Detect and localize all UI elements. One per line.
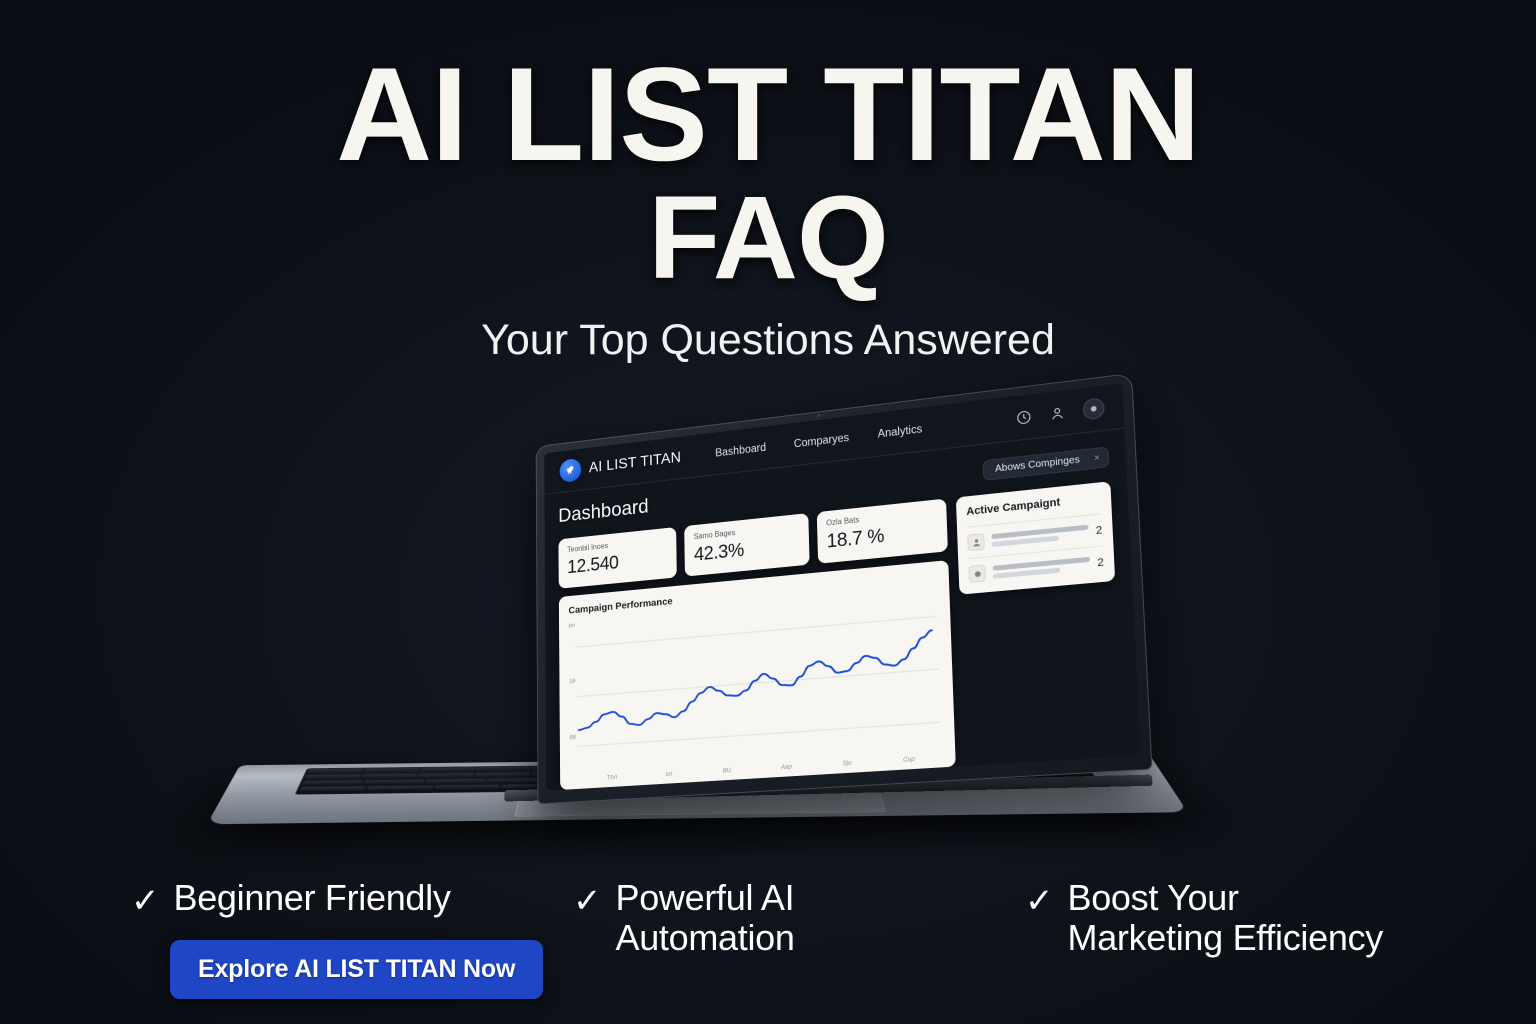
keyboard-key xyxy=(303,780,364,785)
check-icon: ✓ xyxy=(573,884,602,918)
line-chart: bn 18 88 xyxy=(569,587,945,776)
x-tick-label: Cup xyxy=(878,754,941,765)
check-icon: ✓ xyxy=(1025,884,1054,918)
poster-canvas: AI LIST TITAN FAQ Your Top Questions Ans… xyxy=(0,0,1536,1024)
hero-section: AI LIST TITAN FAQ Your Top Questions Ans… xyxy=(0,0,1536,365)
x-tick-label: Ixt xyxy=(640,769,698,779)
keyboard-key xyxy=(420,767,475,771)
laptop-lid: AI LIST TITAN Bashboard Comparyes Analyt… xyxy=(536,373,1153,805)
x-tick-label: TIVI xyxy=(584,773,640,783)
grid-line xyxy=(576,669,938,697)
close-icon[interactable]: × xyxy=(1094,452,1100,463)
x-tick-label: Aap xyxy=(756,762,816,773)
rocket-icon xyxy=(560,458,582,483)
placeholder-bars xyxy=(991,525,1089,547)
keyboard-key xyxy=(434,785,500,790)
user-icon[interactable] xyxy=(1049,404,1066,422)
active-campaigns-panel: Active Campaignt 2 xyxy=(956,481,1115,594)
brand-name: AI LIST TITAN xyxy=(589,449,681,476)
help-circle-icon[interactable] xyxy=(1015,408,1032,425)
keyboard-key xyxy=(308,769,364,773)
nav-links: Bashboard Comparyes Analytics xyxy=(715,423,922,459)
feature-label: Boost Your Marketing Efficiency xyxy=(1068,878,1383,957)
nav-item-comparyes[interactable]: Comparyes xyxy=(794,432,850,450)
dashboard-app: AI LIST TITAN Bashboard Comparyes Analyt… xyxy=(544,383,1141,791)
nav-item-analytics[interactable]: Analytics xyxy=(878,423,923,440)
feature-item-boost-marketing-efficiency: ✓ Boost Your Marketing Efficiency xyxy=(1025,878,1383,957)
x-tick-label: Sjo xyxy=(816,758,877,769)
keyboard-key xyxy=(367,785,433,790)
keyboard-key xyxy=(300,786,367,791)
stat-card[interactable]: Ozla Bats 18.7 % xyxy=(816,499,947,564)
dashboard-main-column: Teonbil Inoes 12.540 Samo Bages 42.3% Oz… xyxy=(558,499,955,790)
chart-card: Campaign Performance bn 18 88 TIVI xyxy=(559,560,956,790)
thumbnail-icon xyxy=(968,565,986,583)
filter-pill-label: Abows Compinges xyxy=(995,454,1080,474)
keyboard-key xyxy=(362,774,418,779)
thumbnail-icon xyxy=(967,533,985,551)
keyboard-key xyxy=(425,779,485,784)
feature-item-powerful-ai-automation: ✓ Powerful AI Automation xyxy=(573,878,795,957)
nav-item-bashboard[interactable]: Bashboard xyxy=(715,442,766,459)
stat-card[interactable]: Teonbil Inoes 12.540 xyxy=(558,527,677,589)
feature-label: Powerful AI Automation xyxy=(616,878,795,957)
panel-title: Active Campaignt xyxy=(966,492,1101,518)
x-tick-label: BU xyxy=(698,766,757,776)
dashboard-grid: Teonbil Inoes 12.540 Samo Bages 42.3% Oz… xyxy=(558,481,1123,790)
grid-line xyxy=(577,722,941,746)
page-title: Dashboard xyxy=(558,496,649,528)
stat-card[interactable]: Samo Bages 42.3% xyxy=(684,513,809,576)
explore-cta-button[interactable]: Explore AI LIST TITAN Now xyxy=(170,940,543,999)
keyboard-key xyxy=(476,767,531,771)
keyboard-key xyxy=(475,772,530,777)
chart-series-line xyxy=(578,630,934,730)
keyboard-key xyxy=(364,768,419,772)
chart-plot xyxy=(569,587,945,776)
check-icon: ✓ xyxy=(131,884,160,918)
brand-block[interactable]: AI LIST TITAN xyxy=(560,446,682,483)
laptop-display: AI LIST TITAN Bashboard Comparyes Analyt… xyxy=(544,383,1141,791)
avatar[interactable] xyxy=(1082,397,1105,420)
page-subtitle: Your Top Questions Answered xyxy=(0,316,1536,365)
webcam-icon xyxy=(817,414,820,417)
placeholder-bars xyxy=(993,557,1091,579)
laptop-mockup: AI LIST TITAN Bashboard Comparyes Analyt… xyxy=(243,398,1153,873)
filter-pill[interactable]: Abows Compinges × xyxy=(983,446,1110,480)
page-headline-line1: AI LIST TITAN xyxy=(0,54,1536,176)
page-headline-line2: FAQ xyxy=(0,182,1536,294)
nav-icons xyxy=(1015,397,1105,428)
feature-label: Beginner Friendly xyxy=(174,878,451,918)
keyboard-key xyxy=(419,773,474,778)
campaign-count: 2 xyxy=(1095,524,1102,537)
grid-line xyxy=(576,616,937,647)
feature-item-beginner-friendly: ✓ Beginner Friendly xyxy=(131,878,451,918)
keyboard-key xyxy=(305,774,361,779)
campaign-count: 2 xyxy=(1097,556,1104,569)
keyboard-key xyxy=(364,780,425,785)
